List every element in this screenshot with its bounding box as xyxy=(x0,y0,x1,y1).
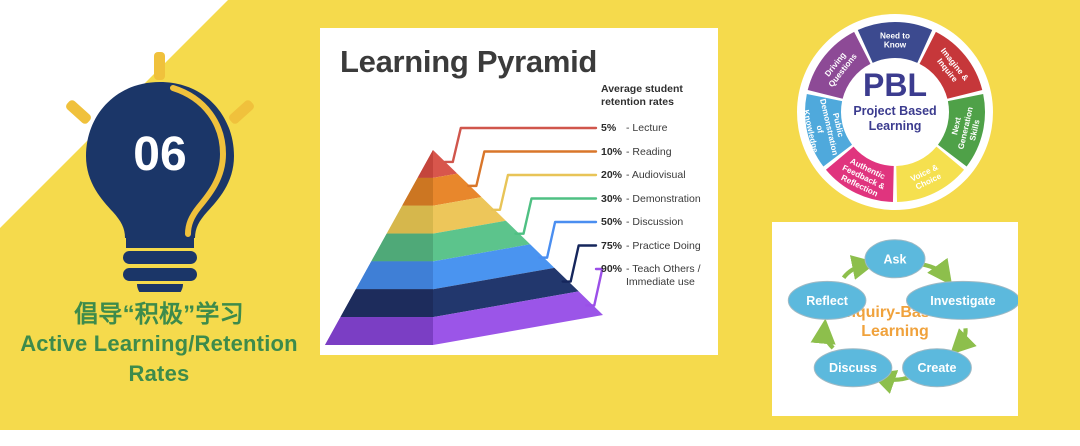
inquiry-arrow xyxy=(958,328,965,346)
legend-row: 20%- Audiovisual xyxy=(601,169,718,193)
legend-row: 90%- Teach Others / Immediate use xyxy=(601,263,718,287)
pbl-center-title: PBL xyxy=(863,67,927,103)
pbl-center-sub-line2: Learning xyxy=(869,119,922,133)
pbl-center-sub-line1: Project Based xyxy=(853,104,936,118)
left-panel: 06 倡导“积极”学习 Active Learning/Retention Ra… xyxy=(0,0,318,430)
inquiry-center-line2: Learning xyxy=(861,323,929,340)
legend-row: 75%- Practice Doing xyxy=(601,240,718,264)
inquiry-node-label: Ask xyxy=(884,252,907,266)
legend-percent: 30% xyxy=(601,193,626,205)
legend-label: - Practice Doing xyxy=(626,240,701,253)
inquiry-based-learning-card: Inquiry-Based Learning AskInvestigateCre… xyxy=(772,222,1018,416)
legend-row: 10%- Reading xyxy=(601,146,718,170)
lightbulb-icon: 06 xyxy=(55,52,265,292)
legend-percent: 5% xyxy=(601,122,626,134)
legend-row: 5%- Lecture xyxy=(601,122,718,146)
legend-label: - Discussion xyxy=(626,216,683,229)
legend-percent: 20% xyxy=(601,169,626,181)
legend-label: - Demonstration xyxy=(626,193,701,206)
slide-canvas: 06 倡导“积极”学习 Active Learning/Retention Ra… xyxy=(0,0,1080,446)
inquiry-arrow xyxy=(922,264,945,276)
caption-english-line2: Rates xyxy=(129,361,190,386)
pbl-wheel: Need toKnowImagine &InquireNextGeneratio… xyxy=(772,12,1018,212)
legend-label: - Reading xyxy=(626,146,672,159)
inquiry-node-label: Create xyxy=(918,361,957,375)
legend-percent: 10% xyxy=(601,146,626,158)
legend-percent: 90% xyxy=(601,263,626,275)
legend-label: - Teach Others / Immediate use xyxy=(626,263,701,288)
caption-english: Active Learning/Retention Rates xyxy=(0,329,318,389)
legend-row: 30%- Demonstration xyxy=(601,193,718,217)
legend-percent: 50% xyxy=(601,216,626,228)
pyramid-legend: 5%- Lecture10%- Reading20%- Audiovisual3… xyxy=(601,122,718,287)
legend-row: 50%- Discussion xyxy=(601,216,718,240)
inquiry-node-label: Reflect xyxy=(806,294,849,308)
slide-number: 06 xyxy=(133,128,186,181)
legend-label: - Audiovisual xyxy=(626,169,686,182)
inquiry-arrow xyxy=(844,265,866,278)
pbl-segment-label: Need toKnow xyxy=(880,31,910,49)
caption-english-line1: Active Learning/Retention xyxy=(20,331,298,356)
learning-pyramid-card: Learning Pyramid Average student retenti… xyxy=(320,28,718,355)
caption-chinese: 倡导“积极”学习 xyxy=(0,294,318,329)
bottom-white-strip xyxy=(0,430,1080,446)
legend-percent: 75% xyxy=(601,240,626,252)
inquiry-node-label: Discuss xyxy=(829,361,877,375)
inquiry-arrow xyxy=(824,330,833,348)
legend-label: - Lecture xyxy=(626,122,667,135)
inquiry-node-label: Investigate xyxy=(930,294,995,308)
